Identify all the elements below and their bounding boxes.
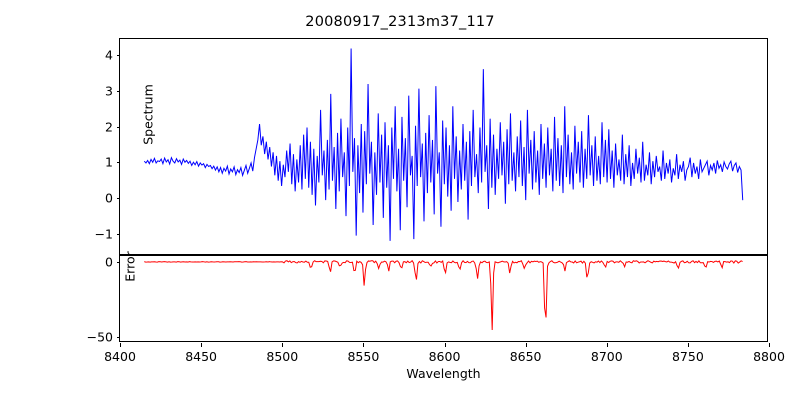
figure-canvas: 20080917_2313m37_117 Spectrum 43210−1 Er… <box>0 0 800 400</box>
error-ytick-mark <box>117 337 121 338</box>
spectrum-ytick-label: 4 <box>105 48 113 63</box>
x-tick-label: 8750 <box>672 349 704 364</box>
x-tick-mark <box>120 343 121 347</box>
x-tick-mark <box>445 343 446 347</box>
error-axis-title: Error <box>123 226 138 306</box>
x-tick-mark <box>526 343 527 347</box>
x-axis-title: Wavelength <box>119 366 768 381</box>
spectrum-ytick-label: 1 <box>105 155 113 170</box>
spectrum-ytick-mark <box>117 91 121 92</box>
x-tick-mark <box>282 343 283 347</box>
error-axes: Error 0−50840084508500855086008650870087… <box>119 255 768 342</box>
spectrum-ytick-label: 2 <box>105 119 113 134</box>
error-ytick-label: 0 <box>105 255 113 270</box>
x-tick-label: 8800 <box>753 349 785 364</box>
error-plot-area <box>120 256 767 341</box>
spectrum-ytick-mark <box>117 198 121 199</box>
spectrum-ytick-mark <box>117 234 121 235</box>
spectrum-plot-area <box>120 39 767 254</box>
x-tick-mark <box>201 343 202 347</box>
figure-title: 20080917_2313m37_117 <box>0 14 800 30</box>
x-tick-label: 8450 <box>185 349 217 364</box>
x-tick-mark <box>769 343 770 347</box>
spectrum-ytick-mark <box>117 127 121 128</box>
spectrum-ytick-label: 0 <box>105 191 113 206</box>
x-tick-label: 8600 <box>429 349 461 364</box>
error-ytick-label: −50 <box>87 330 113 345</box>
spectrum-ytick-label: −1 <box>95 226 113 241</box>
error-ytick-mark <box>117 262 121 263</box>
spectrum-axes: Spectrum 43210−1 <box>119 38 768 255</box>
x-tick-mark <box>607 343 608 347</box>
spectrum-ytick-mark <box>117 162 121 163</box>
x-tick-mark <box>363 343 364 347</box>
x-tick-label: 8650 <box>510 349 542 364</box>
x-tick-label: 8500 <box>266 349 298 364</box>
spectrum-ytick-label: 3 <box>105 83 113 98</box>
x-tick-label: 8400 <box>104 349 136 364</box>
x-tick-mark <box>688 343 689 347</box>
x-tick-label: 8700 <box>591 349 623 364</box>
spectrum-ytick-mark <box>117 55 121 56</box>
spectrum-axis-title: Spectrum <box>141 74 156 154</box>
x-tick-label: 8550 <box>347 349 379 364</box>
